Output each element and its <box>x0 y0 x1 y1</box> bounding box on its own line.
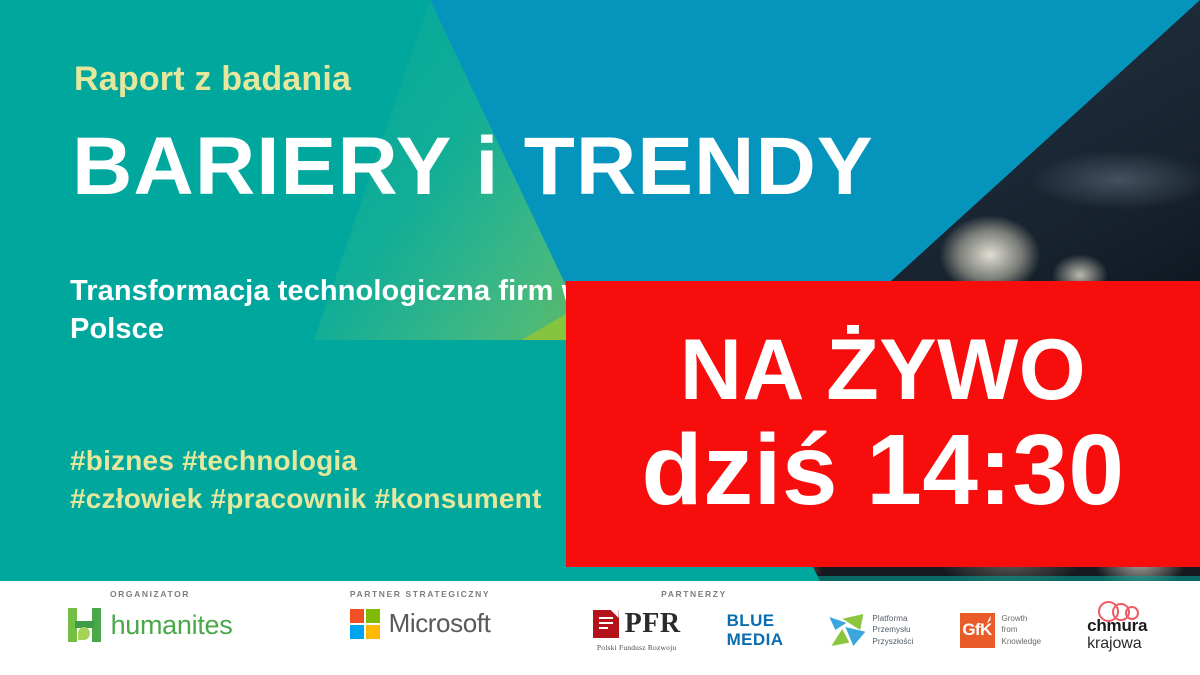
platforma-wordmark: Platforma Przemysłu Przyszłości <box>872 613 913 647</box>
hero-banner: Raport z badania BARIERY i TRENDY Transf… <box>0 0 1200 581</box>
gfk-line3: Knowledge <box>1002 637 1042 646</box>
logo-chmura-krajowa[interactable]: chmura krajowa <box>1087 608 1147 652</box>
chmura-bubbles-icon <box>1098 600 1150 622</box>
platforma-butterfly-icon <box>829 614 865 646</box>
logo-humanites[interactable]: humanites <box>68 608 233 642</box>
microsoft-squares-icon <box>350 609 380 639</box>
sponsor-group-logos: humanites <box>68 608 233 642</box>
platforma-line3: Przyszłości <box>872 637 913 646</box>
sponsor-group-label: PARTNER STRATEGICZNY <box>350 589 490 599</box>
pfr-lockup: PFR <box>593 608 681 640</box>
sponsor-group-organizator: ORGANIZATOR humanites <box>0 589 300 642</box>
background-photo-top-right <box>870 0 1200 300</box>
platforma-line2: Przemysłu <box>872 625 910 634</box>
sponsor-logo-row: ORGANIZATOR humanites PARTNER STRATEGICZ… <box>0 581 1200 675</box>
poster: Raport z badania BARIERY i TRENDY Transf… <box>0 0 1200 675</box>
sponsor-group-logos: Microsoft <box>350 608 491 639</box>
page-title: BARIERY i TRENDY <box>72 126 874 208</box>
humanites-mark-icon <box>68 608 102 642</box>
microsoft-wordmark: Microsoft <box>389 608 491 639</box>
live-badge[interactable]: NA ŻYWO dziś 14:30 <box>566 281 1200 567</box>
report-kicker: Raport z badania <box>74 60 351 99</box>
pfr-tagline: Polski Fundusz Rozwoju <box>597 643 676 652</box>
blue-media-line2: MEDIA <box>727 630 784 649</box>
live-badge-line2: dziś 14:30 <box>641 419 1124 521</box>
gfk-tagline: Growth from Knowledge <box>1002 613 1042 648</box>
sponsor-group-partnerzy: PARTNERZY PFR Polski Fundusz Rozwoju BLU… <box>540 589 1200 652</box>
page-subtitle: Transformacja technologiczna firm w Pols… <box>70 272 590 349</box>
humanites-wordmark: humanites <box>111 610 233 641</box>
logo-microsoft[interactable]: Microsoft <box>350 608 491 639</box>
gfk-line2: from <box>1002 625 1018 634</box>
pfr-wordmark: PFR <box>625 608 681 640</box>
platforma-line1: Platforma <box>872 614 907 623</box>
gfk-line1: Growth <box>1002 614 1028 623</box>
sponsor-footer: ORGANIZATOR humanites PARTNER STRATEGICZ… <box>0 581 1200 675</box>
sponsor-group-logos: PFR Polski Fundusz Rozwoju BLUE MEDIA <box>593 608 1148 652</box>
logo-gfk[interactable]: GfK Growth from Knowledge <box>960 613 1042 648</box>
pfr-document-icon <box>593 610 619 638</box>
logo-blue-media[interactable]: BLUE MEDIA <box>727 611 784 649</box>
sponsor-group-label: PARTNERZY <box>661 589 727 599</box>
sponsor-group-label: ORGANIZATOR <box>110 589 190 599</box>
live-badge-line1: NA ŻYWO <box>680 327 1086 415</box>
logo-platforma-przemyslu-przyszlosci[interactable]: Platforma Przemysłu Przyszłości <box>829 613 913 647</box>
hashtag-list: #biznes #technologia #człowiek #pracowni… <box>70 442 541 517</box>
blue-media-line1: BLUE <box>727 611 784 630</box>
sponsor-group-partner-strategiczny: PARTNER STRATEGICZNY Microsoft <box>300 589 540 639</box>
gfk-mark-icon: GfK <box>960 613 995 648</box>
logo-pfr[interactable]: PFR Polski Fundusz Rozwoju <box>593 608 681 652</box>
chmura-line2: krajowa <box>1087 636 1141 652</box>
